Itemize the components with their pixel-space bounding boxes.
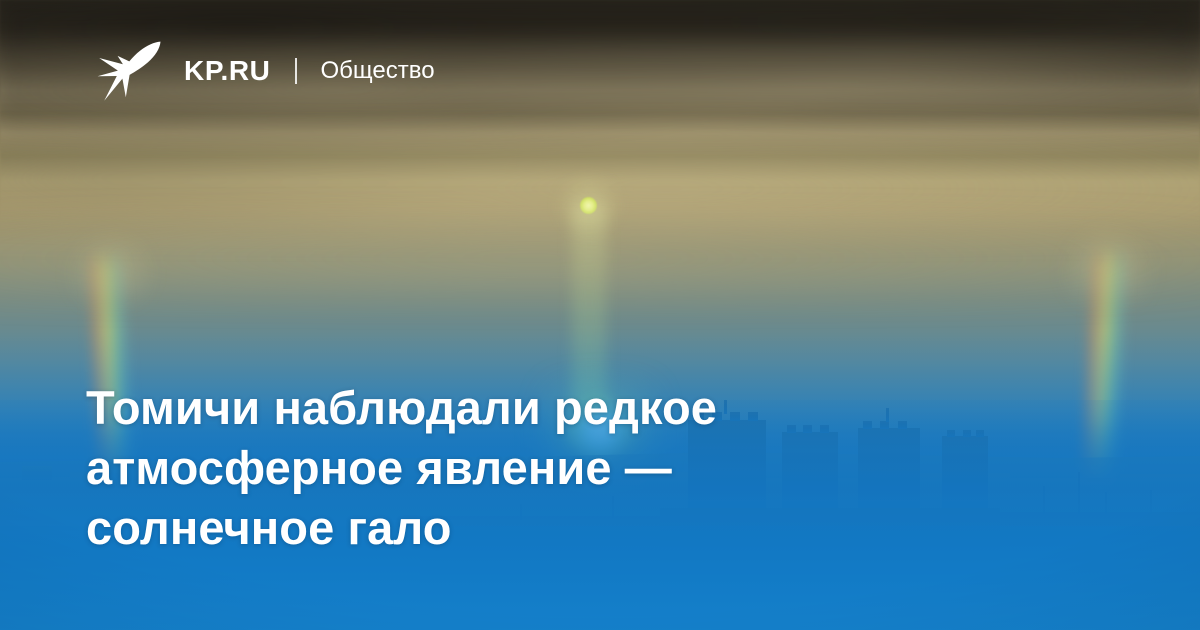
swallow-bird-logo-icon[interactable] (96, 40, 162, 102)
card-header: KP.RU Общество (96, 40, 435, 102)
share-card: KP.RU Общество Томичи наблюдали редкое а… (0, 0, 1200, 630)
header-divider (295, 58, 297, 84)
rubric-label[interactable]: Общество (321, 59, 435, 83)
headline-title: Томичи наблюдали редкое атмосферное явле… (86, 378, 916, 558)
brand-name[interactable]: KP.RU (184, 57, 271, 85)
